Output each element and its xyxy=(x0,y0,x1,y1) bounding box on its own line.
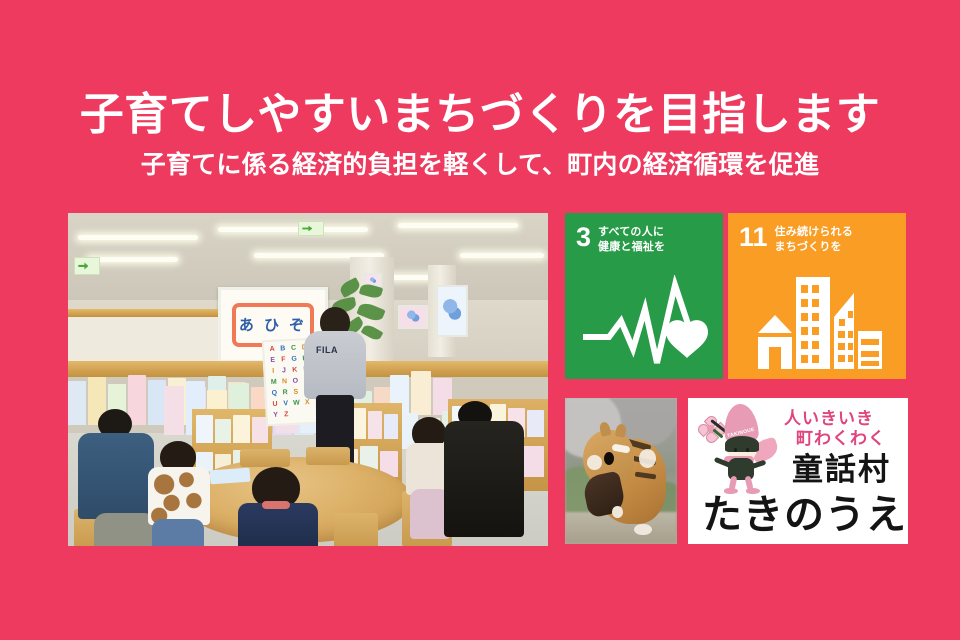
sdg-3-heading: 3 すべての人に 健康と福祉を xyxy=(576,225,665,254)
chipmunk-paw xyxy=(612,506,623,518)
child-torso xyxy=(238,503,318,546)
wall-poster xyxy=(398,305,428,329)
adult-seated-right xyxy=(444,401,530,546)
page-title: 子育てしやすいまちづくりを目指します xyxy=(0,92,960,139)
sdg-11-heading: 11 住み続けられる まちづくりを xyxy=(739,225,853,254)
chipmunk-cheek xyxy=(587,455,602,470)
library-photo: あ ひ ぞ xyxy=(68,213,548,546)
chair xyxy=(240,449,290,467)
sdg-3-label-line2: 健康と福祉を xyxy=(598,241,665,253)
sdg-11-number: 11 xyxy=(739,225,768,249)
chipmunk-white-patch xyxy=(639,449,656,468)
sdg-goal-3-badge[interactable]: 3 すべての人に 健康と福祉を xyxy=(565,213,723,379)
cityscape-buildings-icon xyxy=(756,271,882,371)
mascot-eye xyxy=(734,448,737,452)
sdg-11-label-line1: 住み続けられる xyxy=(775,226,853,238)
ceiling-light xyxy=(218,227,368,232)
child-lap xyxy=(152,519,204,546)
wall-poster xyxy=(436,285,468,337)
adult-torso: FILA xyxy=(304,331,366,399)
chipmunk-ear xyxy=(615,423,627,437)
child-torso xyxy=(148,467,210,525)
chipmunk-face-stripe xyxy=(611,444,629,454)
sdg-11-label: 住み続けられる まちづくりを xyxy=(775,225,853,254)
sdg-goal-11-badge[interactable]: 11 住み続けられる まちづくりを xyxy=(728,213,906,379)
ceiling-light xyxy=(398,223,518,228)
chipmunk-stripe xyxy=(635,471,656,479)
mascot-hair xyxy=(725,436,759,452)
library-scene: あ ひ ぞ xyxy=(68,213,548,546)
chipmunk-eye xyxy=(604,452,614,465)
sdg-3-label: すべての人に 健康と福祉を xyxy=(598,225,665,254)
exit-sign-icon xyxy=(298,221,324,236)
heartbeat-heart-icon xyxy=(583,275,711,367)
page-subtitle: 子育てに係る経済的負担を軽くして、町内の経済循環を促進 xyxy=(0,152,960,180)
child-seated-navy xyxy=(236,467,320,546)
ceiling-light xyxy=(460,253,544,258)
chair xyxy=(306,447,350,465)
ceiling-light xyxy=(88,257,178,262)
adult-torso xyxy=(444,421,524,537)
collar xyxy=(262,501,290,509)
shelf-side xyxy=(68,317,218,361)
takinoue-mascot-icon: TAKINOUE xyxy=(694,402,786,494)
shelf-top xyxy=(68,309,218,317)
sdg-11-label-line2: まちづくりを xyxy=(775,241,842,253)
chipmunk-photo xyxy=(565,398,677,544)
hoodie-brand-text: FILA xyxy=(316,345,338,355)
adult-torso xyxy=(78,433,154,519)
sdg-3-label-line1: すべての人に xyxy=(598,226,664,238)
takinoue-logo[interactable]: TAKINOUE 人いきいき 町わくわく 童話村 たきのうえ xyxy=(688,398,908,544)
chair xyxy=(334,513,378,546)
plant-leaf xyxy=(359,282,383,300)
logo-town-name: たきのうえ xyxy=(702,482,898,540)
book-display-row xyxy=(196,413,268,443)
child-seated-cowprint xyxy=(146,441,216,546)
mascot-eye xyxy=(746,448,749,452)
plant-leaf xyxy=(338,277,362,298)
sdg-3-number: 3 xyxy=(576,225,591,249)
ceiling-light xyxy=(78,235,198,240)
exit-sign-icon xyxy=(74,257,100,275)
